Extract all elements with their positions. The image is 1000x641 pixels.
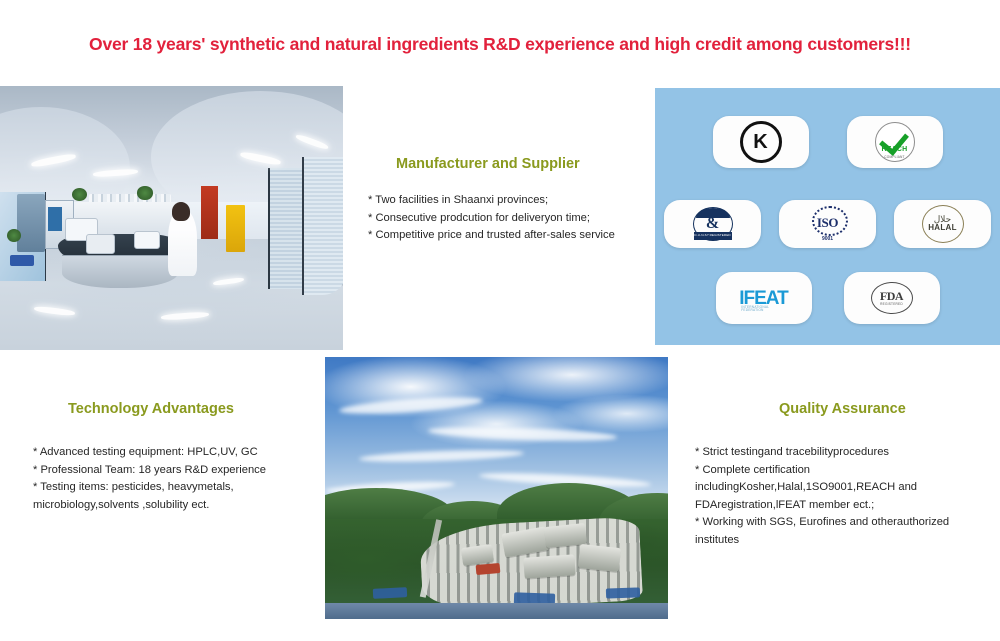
kosher-letter: K [753,132,767,152]
manufacturer-body: * Two facilities in Shaanxi provinces; *… [368,192,658,245]
lab-oven-window [48,207,62,231]
lab-blue-case [10,255,34,266]
technology-bullet: * Testing items: pesticides, heavymetals… [33,479,313,514]
aerial-photo [325,357,668,619]
technology-title: Technology Advantages [68,401,234,417]
page-title: Over 18 years' synthetic and natural ing… [0,34,1000,55]
duns-certificate-card: & D-U-N-S? REGISTERED [664,200,761,248]
aerial-water [325,603,668,619]
quality-bullet: * Complete certification includingKosher… [695,462,985,515]
technology-body: * Advanced testing equipment: HPLC,UV, G… [33,444,313,514]
duns-bar: D-U-N-S? REGISTERED [694,232,732,240]
lab-technician-hair [172,202,190,220]
lab-refrigerator [17,194,44,252]
aerial-building [523,554,576,578]
iso-certificate-card: ISO 9001 [779,200,876,248]
quality-title: Quality Assurance [779,401,906,417]
manufacturer-bullet: * Two facilities in Shaanxi provinces; [368,192,658,210]
iso-icon: ISO 9001 [807,206,849,242]
certification-panel: K REACH COMPLIANT & D-U-N-S? REGISTERED [655,88,1000,345]
aerial-blue-roof [373,587,408,599]
manufacturer-title: Manufacturer and Supplier [396,156,580,172]
reach-icon: REACH COMPLIANT [875,122,915,162]
lab-plant [72,188,87,201]
lab-door [201,186,218,239]
lab-plant [137,186,152,199]
halal-label: HALAL [928,224,957,233]
duns-sublabel: D-U-N-S? REGISTERED [694,234,730,238]
halal-certificate-card: حلال HALAL [894,200,991,248]
halal-icon: حلال HALAL [922,205,964,243]
quality-bullet: * Working with SGS, Eurofines and othera… [695,514,985,549]
certification-row: & D-U-N-S? REGISTERED ISO 9001 حلال HALA… [655,200,1000,248]
manufacturer-bullet: * Consecutive prodcution for deliveryon … [368,210,658,228]
lab-plant [7,229,21,242]
iso-number: 9001 [822,236,833,242]
manufacturer-bullet: * Competitive price and trusted after-sa… [368,227,658,245]
certification-row: K REACH COMPLIANT [655,116,1000,168]
iso-label: ISO [817,216,838,229]
lab-counter-base [62,255,179,288]
slide-root: Over 18 years' synthetic and natural ing… [0,0,1000,641]
aerial-building [578,544,621,572]
ifeat-certificate-card: IFEAT INTERNATIONAL FEDERATION [716,272,812,324]
fda-icon: FDA REGISTERED [871,282,913,314]
fda-sublabel: REGISTERED [880,302,903,306]
fda-certificate-card: FDA REGISTERED [844,272,940,324]
lab-safety-cabinet [226,205,245,253]
quality-body: * Strict testingand tracebilityprocedure… [695,444,985,549]
lab-glass-partition-right-2 [302,157,343,294]
certification-row: IFEAT INTERNATIONAL FEDERATION FDA REGIS… [655,272,1000,324]
lab-instrument [134,231,160,249]
duns-icon: & D-U-N-S? REGISTERED [693,207,733,241]
kosher-icon: K [740,121,782,163]
reach-certificate-card: REACH COMPLIANT [847,116,943,168]
lab-photo [0,86,343,350]
technology-bullet: * Advanced testing equipment: HPLC,UV, G… [33,444,313,462]
reach-label: REACH [882,146,908,153]
reach-sublabel: COMPLIANT [884,155,904,159]
ifeat-sublabel: INTERNATIONAL FEDERATION [741,306,787,312]
aerial-blue-roof [606,587,641,599]
fda-label: FDA [880,290,903,302]
kosher-certificate-card: K [713,116,809,168]
ifeat-icon: IFEAT INTERNATIONAL FEDERATION [739,289,787,308]
lab-instrument [86,234,115,254]
technology-bullet: * Professional Team: 18 years R&D experi… [33,462,313,480]
quality-bullet: * Strict testingand tracebilityprocedure… [695,444,985,462]
